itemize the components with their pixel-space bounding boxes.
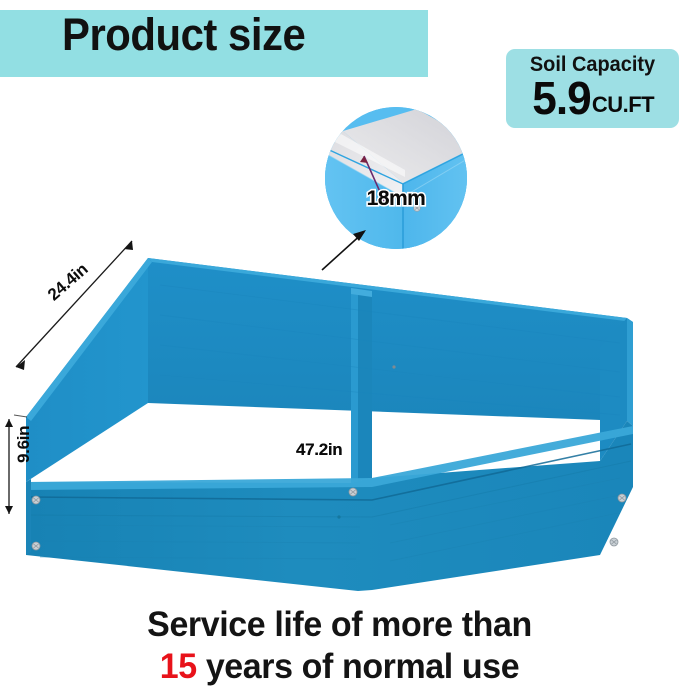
left-end-wall	[26, 258, 148, 482]
service-life-footer: Service life of more than 15 years of no…	[0, 604, 679, 688]
soil-capacity-unit: CU.FT	[592, 92, 654, 117]
service-life-line-2: 15 years of normal use	[10, 646, 669, 688]
soil-capacity-badge: Soil Capacity 5.9CU.FT	[506, 49, 679, 128]
service-life-line-1: Service life of more than	[10, 604, 669, 646]
soil-capacity-value-row: 5.9CU.FT	[506, 75, 679, 128]
back-wall	[148, 258, 627, 421]
service-life-years: 15	[160, 647, 197, 686]
page-title: Product size	[62, 12, 305, 57]
service-life-line-2-rest: years of normal use	[197, 647, 519, 686]
width-dimension-label: 47.2in	[296, 440, 342, 460]
product-illustration	[0, 225, 679, 600]
center-divider	[351, 288, 358, 483]
thickness-callout: 18mm	[325, 187, 467, 211]
height-dimension-label: 9.6in	[14, 426, 34, 463]
soil-capacity-value: 5.9	[532, 75, 591, 121]
